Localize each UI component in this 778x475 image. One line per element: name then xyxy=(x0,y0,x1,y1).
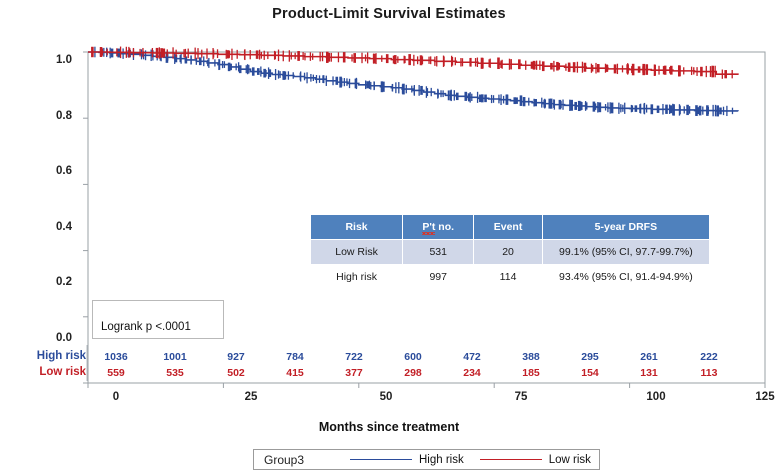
chart-legend: Group3 High risk Low risk xyxy=(253,449,600,470)
cell-risk: Low Risk xyxy=(311,240,403,265)
risk-count-high: 1001 xyxy=(152,351,198,363)
misspelled-word: P't xyxy=(422,221,435,233)
y-tick-label: 0.8 xyxy=(28,110,72,122)
risk-count-high: 472 xyxy=(449,351,495,363)
legend-line-swatch-red xyxy=(480,459,542,460)
legend-entry-high-risk: High risk xyxy=(350,454,464,466)
x-tick-label: 50 xyxy=(366,391,406,403)
cell-pt-no: 997 xyxy=(403,265,474,290)
header-drfs: 5-year DRFS xyxy=(542,215,709,240)
risk-count-high: 295 xyxy=(567,351,613,363)
risk-count-high: 261 xyxy=(626,351,672,363)
summary-table: Risk P't no. Event 5-year DRFS Low Risk … xyxy=(310,214,710,290)
risk-count-low: 535 xyxy=(152,367,198,379)
y-tick-label: 0.6 xyxy=(28,165,72,177)
y-tick-label: 0.4 xyxy=(28,221,72,233)
risk-count-low: 559 xyxy=(93,367,139,379)
y-tick-label: 0.0 xyxy=(28,332,72,344)
risk-count-high: 927 xyxy=(213,351,259,363)
x-tick-label: 25 xyxy=(231,391,271,403)
cell-event: 114 xyxy=(474,265,542,290)
cell-pt-no: 531 xyxy=(403,240,474,265)
risk-count-high: 600 xyxy=(390,351,436,363)
legend-label-low-risk: Low risk xyxy=(549,454,591,466)
risk-row-label-low: Low risk xyxy=(4,366,86,378)
risk-count-low: 298 xyxy=(390,367,436,379)
risk-count-low: 113 xyxy=(686,367,732,379)
x-tick-label: 125 xyxy=(745,391,778,403)
risk-count-low: 415 xyxy=(272,367,318,379)
risk-count-low: 185 xyxy=(508,367,554,379)
summary-table-header-row: Risk P't no. Event 5-year DRFS xyxy=(311,215,710,240)
cell-event: 20 xyxy=(474,240,542,265)
risk-count-low: 377 xyxy=(331,367,377,379)
x-tick-label: 100 xyxy=(636,391,676,403)
header-pt-no-suffix: no. xyxy=(435,221,454,233)
censor-marks-low-risk xyxy=(91,47,733,79)
risk-count-high: 784 xyxy=(272,351,318,363)
cell-drfs: 99.1% (95% CI, 97.7-99.7%) xyxy=(542,240,709,265)
header-pt-no: P't no. xyxy=(403,215,474,240)
legend-entry-low-risk: Low risk xyxy=(480,454,591,466)
y-tick-label: 0.2 xyxy=(28,276,72,288)
legend-line-swatch-blue xyxy=(350,459,412,460)
risk-count-high: 722 xyxy=(331,351,377,363)
risk-count-high: 1036 xyxy=(93,351,139,363)
x-axis-title: Months since treatment xyxy=(0,420,778,434)
table-row: High risk 997 114 93.4% (95% CI, 91.4-94… xyxy=(311,265,710,290)
x-tick-label: 75 xyxy=(501,391,541,403)
risk-count-low: 131 xyxy=(626,367,672,379)
risk-row-label-high: High risk xyxy=(4,350,86,362)
survival-chart-figure: Product-Limit Survival Estimates 1.0 0.8… xyxy=(0,0,778,475)
header-risk: Risk xyxy=(311,215,403,240)
logrank-annotation-box: Logrank p <.0001 xyxy=(92,300,224,339)
y-tick-label: 1.0 xyxy=(28,54,72,66)
logrank-text: Logrank p <.0001 xyxy=(93,321,191,338)
table-row: Low Risk 531 20 99.1% (95% CI, 97.7-99.7… xyxy=(311,240,710,265)
legend-label-high-risk: High risk xyxy=(419,454,464,466)
risk-count-high: 388 xyxy=(508,351,554,363)
risk-count-low: 154 xyxy=(567,367,613,379)
risk-count-low: 234 xyxy=(449,367,495,379)
header-event: Event xyxy=(474,215,542,240)
risk-count-high: 222 xyxy=(686,351,732,363)
cell-drfs: 93.4% (95% CI, 91.4-94.9%) xyxy=(542,265,709,290)
x-tick-label: 0 xyxy=(96,391,136,403)
cell-risk: High risk xyxy=(311,265,403,290)
legend-group-label: Group3 xyxy=(254,453,350,467)
risk-count-low: 502 xyxy=(213,367,259,379)
